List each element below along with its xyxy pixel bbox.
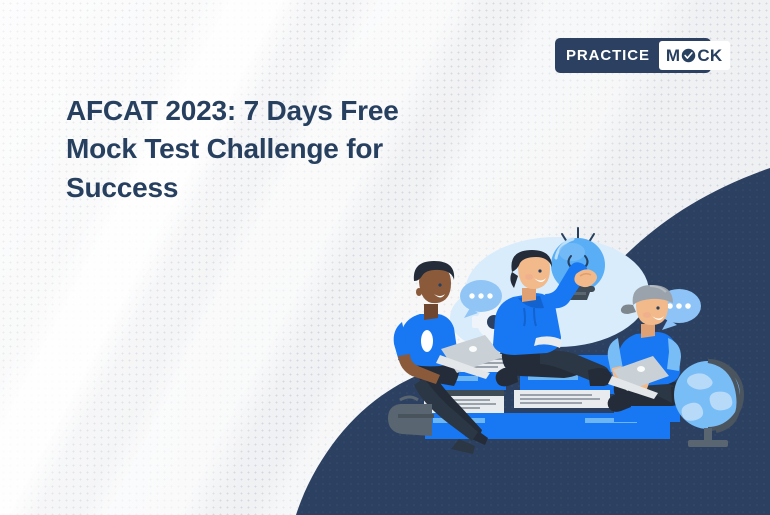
logo-mock-box: M CK (659, 41, 730, 70)
promo-banner: PRACTICE M CK AFCAT 2023: 7 Days Free Mo… (0, 0, 770, 515)
title-line-1: AFCAT 2023: 7 Days Free (66, 92, 486, 130)
title-line-3: Success (66, 169, 486, 207)
students-studying-illustration (0, 0, 770, 515)
logo-practice-text: PRACTICE (555, 47, 659, 64)
page-title: AFCAT 2023: 7 Days Free Mock Test Challe… (66, 92, 486, 207)
globe-icon (674, 361, 742, 447)
logo-mock-prefix: M (666, 46, 680, 66)
practicemock-logo[interactable]: PRACTICE M CK (555, 38, 711, 73)
logo-mock-suffix: CK (697, 46, 722, 66)
title-line-2: Mock Test Challenge for (66, 130, 486, 168)
check-in-circle-icon (681, 48, 696, 63)
